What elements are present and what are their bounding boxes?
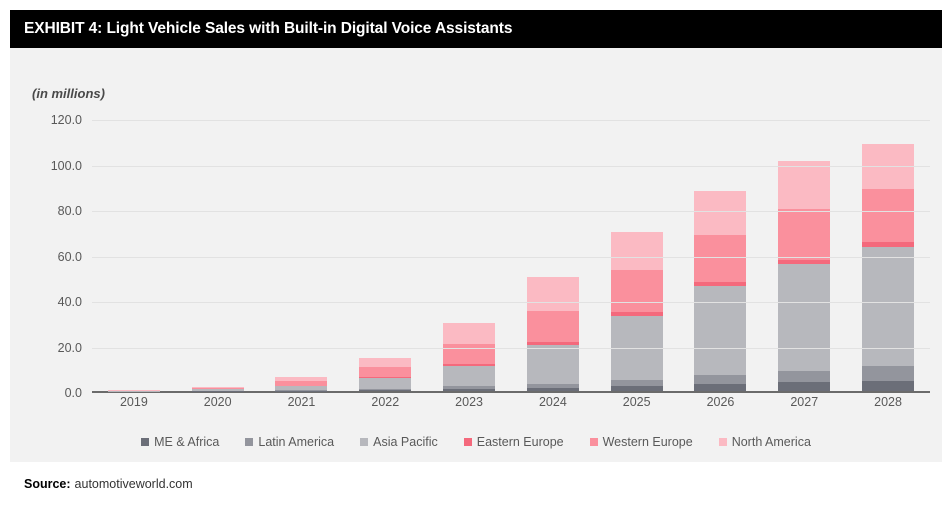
legend-swatch-icon: [464, 438, 472, 446]
stacked-bar-2022[interactable]: [359, 358, 411, 391]
x-axis-label-2023: 2023: [427, 395, 511, 409]
bar-segment[interactable]: [694, 286, 746, 375]
stacked-bar-2021[interactable]: [275, 377, 327, 391]
x-axis-label-2024: 2024: [511, 395, 595, 409]
bar-segment[interactable]: [443, 323, 495, 345]
legend-item-latin-america[interactable]: Latin America: [245, 435, 334, 449]
exhibit-panel: EXHIBIT 4: Light Vehicle Sales with Buil…: [10, 10, 942, 506]
legend-label: Eastern Europe: [477, 435, 564, 449]
bar-slot-2028: [846, 118, 930, 391]
chart-plot-area: 120.0100.080.060.040.020.00.0 2019202020…: [10, 118, 942, 418]
x-axis-label-2022: 2022: [343, 395, 427, 409]
bar-slot-2022: [343, 118, 427, 391]
legend-swatch-icon: [719, 438, 727, 446]
y-axis-tick-40: 40.0: [58, 295, 82, 309]
bar-segment[interactable]: [527, 388, 579, 391]
y-axis-tick-20: 20.0: [58, 341, 82, 355]
bar-segment[interactable]: [443, 366, 495, 387]
legend-label: Western Europe: [603, 435, 693, 449]
bar-slot-2023: [427, 118, 511, 391]
y-axis-tick-120: 120.0: [51, 113, 82, 127]
legend-item-western-europe[interactable]: Western Europe: [590, 435, 693, 449]
bar-segment[interactable]: [694, 235, 746, 282]
legend-item-asia-pacific[interactable]: Asia Pacific: [360, 435, 438, 449]
bar-segment[interactable]: [611, 386, 663, 391]
source-label: Source:: [24, 477, 71, 491]
bar-slot-2019: [92, 118, 176, 391]
bar-segment[interactable]: [778, 382, 830, 391]
stacked-bar-2023[interactable]: [443, 323, 495, 391]
bar-segment[interactable]: [778, 371, 830, 383]
bar-segment[interactable]: [611, 270, 663, 312]
legend-item-north-america[interactable]: North America: [719, 435, 811, 449]
y-axis-tick-0: 0.0: [65, 386, 82, 400]
x-axis-label-2028: 2028: [846, 395, 930, 409]
bar-segment[interactable]: [527, 345, 579, 384]
bar-segment[interactable]: [527, 311, 579, 341]
gridline-60: [92, 257, 930, 258]
legend-label: ME & Africa: [154, 435, 219, 449]
legend-label: Asia Pacific: [373, 435, 438, 449]
bar-group: [92, 118, 930, 391]
x-axis-label-2020: 2020: [176, 395, 260, 409]
stacked-bar-2020[interactable]: [192, 387, 244, 391]
x-axis: 2019202020212022202320242025202620272028: [92, 395, 930, 409]
gridline-100: [92, 166, 930, 167]
bar-segment[interactable]: [862, 366, 914, 380]
x-axis-label-2027: 2027: [762, 395, 846, 409]
bar-segment[interactable]: [862, 189, 914, 242]
stacked-bar-2024[interactable]: [527, 277, 579, 391]
stacked-bar-2026[interactable]: [694, 191, 746, 391]
stacked-bar-2027[interactable]: [778, 161, 830, 391]
gridline-20: [92, 348, 930, 349]
legend-swatch-icon: [360, 438, 368, 446]
x-axis-label-2025: 2025: [595, 395, 679, 409]
legend-item-eastern-europe[interactable]: Eastern Europe: [464, 435, 564, 449]
y-axis-tick-60: 60.0: [58, 250, 82, 264]
y-axis-tick-100: 100.0: [51, 159, 82, 173]
bar-segment[interactable]: [862, 381, 914, 391]
x-axis-label-2019: 2019: [92, 395, 176, 409]
stacked-bar-2019[interactable]: [108, 390, 160, 391]
x-axis-label-2026: 2026: [679, 395, 763, 409]
gridline-120: [92, 120, 930, 121]
legend-item-me-africa[interactable]: ME & Africa: [141, 435, 219, 449]
bar-segment[interactable]: [694, 375, 746, 384]
x-axis-label-2021: 2021: [260, 395, 344, 409]
bar-slot-2024: [511, 118, 595, 391]
y-axis-tick-80: 80.0: [58, 204, 82, 218]
bar-slot-2027: [762, 118, 846, 391]
bar-segment[interactable]: [694, 191, 746, 235]
bar-slot-2026: [679, 118, 763, 391]
source-value: automotiveworld.com: [75, 477, 193, 491]
legend-swatch-icon: [141, 438, 149, 446]
gridline-80: [92, 211, 930, 212]
bar-segment[interactable]: [778, 161, 830, 209]
grid-area: [92, 118, 930, 393]
bar-segment[interactable]: [443, 389, 495, 391]
gridline-40: [92, 302, 930, 303]
source-footer: Source: automotiveworld.com: [10, 462, 942, 506]
legend-label: Latin America: [258, 435, 334, 449]
legend-swatch-icon: [590, 438, 598, 446]
page-title: EXHIBIT 4: Light Vehicle Sales with Buil…: [24, 20, 512, 38]
bar-slot-2021: [260, 118, 344, 391]
bar-segment[interactable]: [527, 277, 579, 311]
x-axis-line: [92, 391, 930, 393]
bar-slot-2025: [595, 118, 679, 391]
bar-segment[interactable]: [359, 378, 411, 388]
bar-segment[interactable]: [359, 390, 411, 391]
units-label: (in millions): [32, 86, 105, 101]
bar-segment[interactable]: [862, 247, 914, 367]
bar-segment[interactable]: [611, 232, 663, 271]
bar-segment[interactable]: [694, 384, 746, 391]
legend-label: North America: [732, 435, 811, 449]
y-axis: 120.0100.080.060.040.020.00.0: [10, 118, 92, 393]
exhibit-title-bar: EXHIBIT 4: Light Vehicle Sales with Buil…: [10, 10, 942, 48]
chart-legend: ME & AfricaLatin AmericaAsia PacificEast…: [10, 435, 942, 449]
bar-segment[interactable]: [778, 264, 830, 370]
bar-segment[interactable]: [359, 367, 411, 377]
bar-segment[interactable]: [359, 358, 411, 367]
bar-segment[interactable]: [778, 209, 830, 260]
bar-slot-2020: [176, 118, 260, 391]
stacked-bar-2028[interactable]: [862, 144, 914, 391]
legend-swatch-icon: [245, 438, 253, 446]
